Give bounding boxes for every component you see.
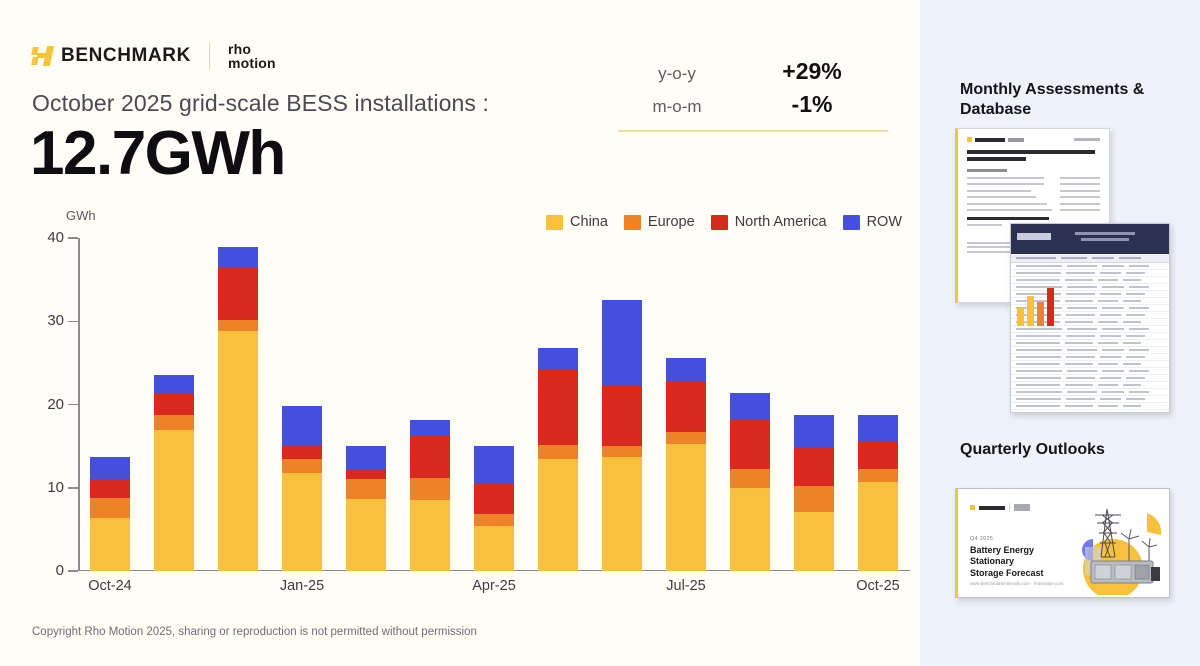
bar-segment-row [410,420,450,435]
stat-value-mom: -1% [736,91,888,118]
legend-label: Europe [648,214,695,230]
list-item [967,196,1100,198]
report-logo-icon [967,137,1024,142]
stacked-bar[interactable] [90,457,130,571]
table-row [1011,403,1169,410]
bar-segment-north-america [218,268,258,320]
bar-segment-europe [90,498,130,518]
benchmark-wordmark: BENCHMARK [61,45,191,67]
bar-chart: GWh ChinaEuropeNorth AmericaROW 01020304… [0,200,920,620]
bar-segment-china [730,488,770,571]
bar-slot [654,238,718,571]
quarterly-outlooks-title: Quarterly Outlooks [960,440,1170,460]
bar-segment-china [90,518,130,571]
legend-label: North America [735,214,827,230]
quarterly-outlooks-section: Quarterly Outlooks [960,440,1170,460]
page-title: October 2025 grid-scale BESS installatio… [32,90,489,117]
stat-row-mom: m-o-m -1% [618,91,888,124]
stacked-bar[interactable] [154,375,194,571]
stats-panel: y-o-y +29% m-o-m -1% [618,58,888,132]
bar-segment-china [218,331,258,571]
stat-value-yoy: +29% [736,58,888,85]
bar-segment-china [474,526,514,571]
bar-slot [846,238,910,571]
rho-motion-logo-icon [1017,233,1051,240]
bar-segment-north-america [538,370,578,445]
outlook-url: www.benchmarkminerals.com · rhomotion.co… [970,581,1064,586]
bar-slot [718,238,782,571]
table-row [1011,382,1169,389]
x-axis-tick-label [334,578,398,604]
stacked-bar[interactable] [858,415,898,571]
bar-segment-europe [730,469,770,488]
bar-segment-row [794,415,834,448]
bar-segment-north-america [474,484,514,514]
stacked-bar[interactable] [410,420,450,571]
bar-segment-china [602,457,642,571]
x-axis-tick-label [142,578,206,604]
list-item [967,183,1100,185]
report-header [967,137,1100,142]
y-axis-tick [68,404,78,406]
bar-segment-europe [858,469,898,482]
bar-segment-row [858,415,898,442]
x-axis-tick-label [782,578,846,604]
plot-inner: 010203040 [78,238,910,571]
list-item [967,209,1100,211]
bar-segment-row [282,406,322,445]
bar-segment-row [538,348,578,370]
stacked-bar[interactable] [346,446,386,571]
bar-slot [526,238,590,571]
bar-segment-china [346,499,386,571]
legend-item-row[interactable]: ROW [843,214,902,230]
table-row [1011,361,1169,368]
stacked-bar[interactable] [218,247,258,571]
report-contents-list [967,177,1100,212]
main-panel: BENCHMARK rho motion October 2025 grid-s… [0,0,920,666]
outlook-logo-icon [970,503,1030,512]
stacked-bar[interactable] [730,393,770,571]
y-axis-tick [68,570,78,572]
stat-label-mom: m-o-m [618,97,736,117]
brand-bar: BENCHMARK rho motion [32,41,276,71]
table-row [1011,368,1169,375]
list-item [967,203,1100,205]
stacked-bar[interactable] [794,415,834,571]
bar-slot [398,238,462,571]
outlook-title-line-1: Battery Energy [970,545,1034,555]
bar-segment-europe [410,478,450,500]
stacked-bar[interactable] [602,300,642,571]
table-row [1011,270,1169,277]
x-axis-tick-label: Jan-25 [270,578,334,604]
chart-legend: ChinaEuropeNorth AmericaROW [546,214,910,230]
table-row [1011,354,1169,361]
y-axis-tick [68,321,78,323]
x-axis-tick-label: Oct-24 [78,578,142,604]
bar-segment-europe [282,459,322,473]
stat-row-yoy: y-o-y +29% [618,58,888,91]
assessment-thumbnails[interactable] [955,128,1170,423]
list-item [967,177,1100,179]
database-thumbnail[interactable] [1010,223,1170,413]
outlook-title-line-2: Stationary [970,556,1014,566]
x-axis-tick-label [398,578,462,604]
stats-underline [618,130,888,132]
report-date-placeholder [1074,138,1100,141]
y-axis-tick-label: 10 [30,479,64,496]
report-contents-label [967,169,1100,172]
bar-segment-north-america [794,448,834,486]
bar-slot [782,238,846,571]
bar-segment-north-america [154,394,194,416]
legend-item-china[interactable]: China [546,214,608,230]
benchmark-logo-icon [32,46,54,66]
x-axis-tick-label [718,578,782,604]
bar-segment-china [154,430,194,571]
y-axis-tick-label: 40 [30,229,64,246]
table-row [1011,340,1169,347]
legend-swatch-icon [546,215,563,230]
bar-segment-europe [602,446,642,457]
outlook-quarter-label: Q4 2025 [970,536,993,542]
bar-slot [142,238,206,571]
legend-swatch-icon [711,215,728,230]
table-row [1011,389,1169,396]
y-axis-tick-label: 20 [30,396,64,413]
bar-segment-north-america [666,382,706,432]
monthly-assessments-section: Monthly Assessments & Database [960,80,1170,120]
bar-segment-china [538,459,578,571]
headline-value: 12.7GWh [30,118,285,189]
bar-segment-europe [794,486,834,512]
bar-slot [270,238,334,571]
bar-segment-europe [154,415,194,430]
y-axis-unit-label: GWh [66,208,96,223]
legend-item-europe[interactable]: Europe [624,214,695,230]
bar-segment-europe [346,479,386,498]
database-header-subtitle [1081,238,1129,241]
bar-slot [590,238,654,571]
bar-segment-china [410,500,450,571]
quarterly-outlook-thumbnail[interactable]: Q4 2025 Battery Energy Stationary Storag… [955,488,1170,598]
x-axis-tick-label: Oct-25 [846,578,910,604]
rho-motion-wordmark: rho motion [228,42,276,70]
bar-segment-north-america [346,469,386,480]
y-axis-tick [68,487,78,489]
bar-segment-row [346,446,386,468]
legend-item-north-america[interactable]: North America [711,214,827,230]
table-row [1011,396,1169,403]
x-axis-tick-label [526,578,590,604]
bar-segment-china [666,444,706,571]
table-row [1011,263,1169,270]
table-row [1011,326,1169,333]
bar-segment-north-america [90,479,130,498]
x-axis-tick-label: Apr-25 [462,578,526,604]
bar-segment-europe [474,514,514,526]
legend-swatch-icon [843,215,860,230]
legend-label: China [570,214,608,230]
bar-slot [78,238,142,571]
bar-segment-row [602,300,642,386]
database-mini-chart [1017,284,1069,326]
database-column-headers [1011,254,1169,263]
bar-segment-europe [666,432,706,444]
x-axis-labels: Oct-24Jan-25Apr-25Jul-25Oct-25 [78,578,910,604]
bar-segment-row [666,358,706,382]
page-root: BENCHMARK rho motion October 2025 grid-s… [0,0,1200,666]
bar-segment-china [794,512,834,571]
bar-segment-row [154,375,194,393]
stacked-bar[interactable] [474,446,514,571]
table-row [1011,410,1169,413]
bar-group [78,238,910,571]
table-row [1011,277,1169,284]
monthly-assessments-title: Monthly Assessments & Database [960,80,1170,120]
x-axis-tick-label [590,578,654,604]
bar-segment-china [282,473,322,571]
x-axis-tick-label [206,578,270,604]
report-title [967,150,1100,161]
database-header-title [1075,232,1135,235]
database-header-bar [1011,224,1169,254]
rho-line-2: motion [228,56,276,70]
bar-segment-north-america [858,442,898,469]
table-row [1011,347,1169,354]
legend-label: ROW [867,214,902,230]
brand-divider [209,42,210,70]
bar-slot [334,238,398,571]
x-axis-tick-label: Jul-25 [654,578,718,604]
bar-segment-europe [538,445,578,458]
outlook-title: Battery Energy Stationary Storage Foreca… [970,545,1044,579]
legend-swatch-icon [624,215,641,230]
bar-slot [206,238,270,571]
stat-label-yoy: y-o-y [618,64,736,84]
bar-segment-europe [218,320,258,332]
bar-segment-north-america [602,386,642,446]
bar-segment-china [858,482,898,571]
bar-slot [462,238,526,571]
outlook-title-line-3: Storage Forecast [970,568,1044,578]
table-row [1011,375,1169,382]
rho-line-1: rho [228,42,276,56]
list-item [967,190,1100,192]
power-infrastructure-illustration [1055,495,1165,595]
y-axis-tick-label: 30 [30,312,64,329]
stacked-bar[interactable] [282,406,322,571]
stacked-bar[interactable] [666,358,706,571]
y-axis-tick-label: 0 [30,562,64,579]
bar-segment-north-america [730,420,770,469]
bar-segment-north-america [282,445,322,458]
bar-segment-north-america [410,435,450,478]
table-row [1011,333,1169,340]
bar-segment-row [218,247,258,268]
plot-area: 010203040 [78,238,910,571]
copyright-notice: Copyright Rho Motion 2025, sharing or re… [32,626,477,638]
bar-segment-row [90,457,130,479]
bar-segment-row [730,393,770,420]
y-axis-tick [68,237,78,239]
bar-segment-row [474,446,514,484]
stacked-bar[interactable] [538,348,578,571]
